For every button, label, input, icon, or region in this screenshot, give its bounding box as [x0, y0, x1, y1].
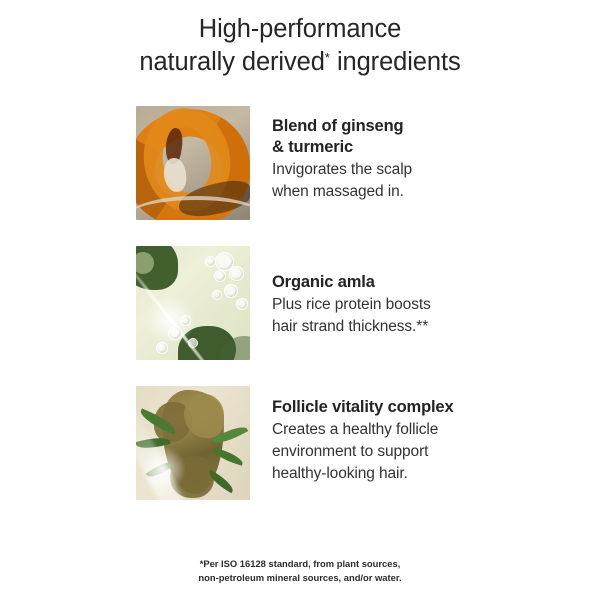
feature-title: Follicle vitality complex	[272, 397, 453, 418]
water-droplet	[212, 290, 222, 300]
feature-desc-line-1: Plus rice protein boosts	[272, 296, 431, 313]
page-title-line-1: High-performance	[0, 13, 600, 46]
feature-desc-line-1: Creates a healthy follicle	[272, 421, 438, 438]
water-droplet	[168, 326, 182, 340]
ingredient-feature-list: Blend of ginseng & turmeric Invigorates …	[136, 106, 556, 500]
feature-title-line-1: Organic amla	[272, 273, 375, 291]
water-droplet	[224, 284, 238, 298]
water-droplet	[205, 256, 216, 267]
list-item: Blend of ginseng & turmeric Invigorates …	[136, 106, 556, 220]
ginger-glow	[140, 446, 186, 492]
footnote-line-2: non-petroleum mineral sources, and/or wa…	[0, 571, 600, 585]
page-title-line-2-tail: ingredients	[330, 48, 461, 76]
feature-desc-line-1: Invigorates the scalp	[272, 161, 412, 178]
feature-text-block: Organic amla Plus rice protein boosts ha…	[250, 246, 431, 338]
feature-desc-line-3: healthy-looking hair.	[272, 465, 408, 482]
page-title-line-2: naturally derived* ingredients	[0, 46, 600, 79]
list-item: Follicle vitality complex Creates a heal…	[136, 386, 556, 500]
footnote-line-1: *Per ISO 16128 standard, from plant sour…	[0, 557, 600, 571]
feature-title: Blend of ginseng & turmeric	[272, 116, 412, 158]
feature-description: Plus rice protein boosts hair strand thi…	[272, 294, 431, 338]
water-droplet	[156, 342, 168, 354]
footnote: *Per ISO 16128 standard, from plant sour…	[0, 557, 600, 585]
feature-title-line-2: & turmeric	[272, 138, 353, 156]
feature-desc-line-2: when massaged in.	[272, 183, 404, 200]
page-title-line-2-text: naturally derived	[139, 48, 324, 76]
feature-desc-line-2: environment to support	[272, 443, 428, 460]
list-item: Organic amla Plus rice protein boosts ha…	[136, 246, 556, 360]
feature-description: Invigorates the scalp when massaged in.	[272, 159, 412, 203]
turmeric-root-photo	[136, 106, 250, 220]
feature-text-block: Blend of ginseng & turmeric Invigorates …	[250, 106, 412, 203]
feature-title-line-1: Blend of ginseng	[272, 117, 403, 135]
water-droplet	[236, 298, 248, 310]
ginger-root-leaves-photo	[136, 386, 250, 500]
page-title: High-performance naturally derived* ingr…	[0, 0, 600, 78]
turmeric-bowl-rim	[136, 196, 250, 220]
water-droplet	[188, 338, 198, 348]
amla-leaf-droplets-photo	[136, 246, 250, 360]
water-droplet	[180, 315, 191, 326]
feature-title: Organic amla	[272, 272, 431, 293]
feature-text-block: Follicle vitality complex Creates a heal…	[250, 386, 453, 485]
feature-description: Creates a healthy follicle environment t…	[272, 419, 453, 485]
water-droplet	[229, 266, 244, 281]
water-droplet	[214, 270, 226, 282]
feature-title-line-1: Follicle vitality complex	[272, 398, 453, 416]
feature-desc-line-2: hair strand thickness.**	[272, 318, 428, 335]
